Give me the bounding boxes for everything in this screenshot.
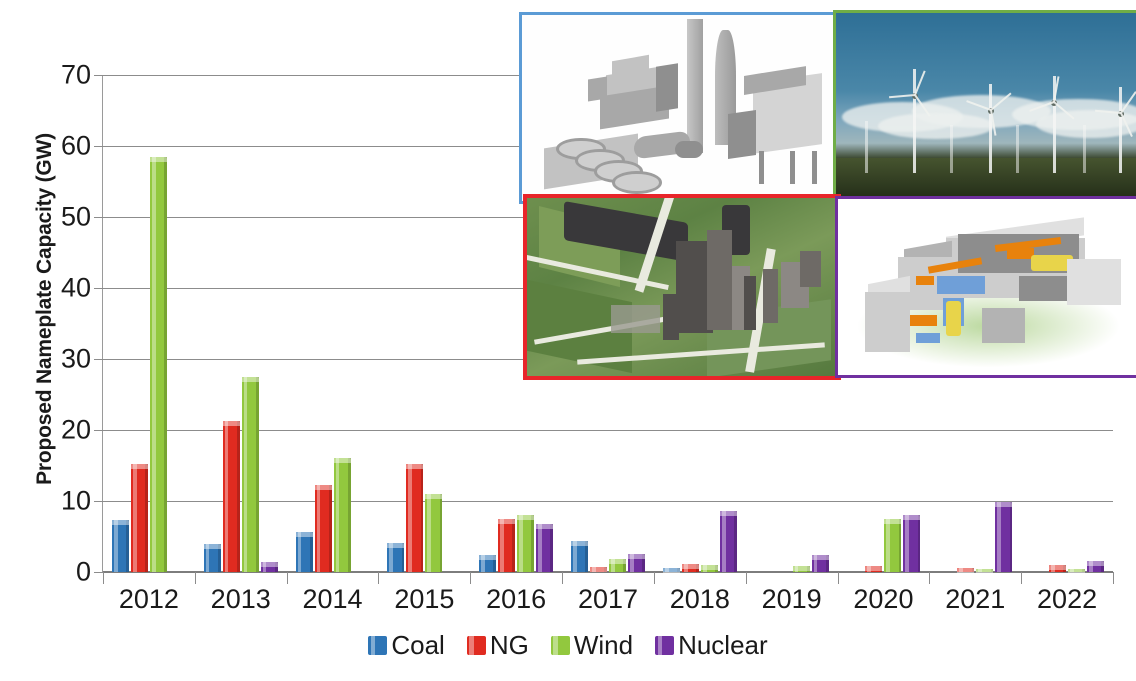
x-axis-tick-label-2020: 2020	[838, 584, 930, 615]
x-axis-tick-mark	[1021, 572, 1022, 584]
x-axis-tick-mark	[470, 572, 471, 584]
bar-cap	[296, 532, 313, 537]
bar-coal-2013[interactable]	[204, 544, 221, 572]
bar-coal-2014[interactable]	[296, 532, 313, 572]
bar-highlight	[225, 421, 229, 572]
legend-item-ng[interactable]: NG	[467, 630, 529, 661]
bar-cap	[1049, 565, 1066, 570]
x-axis-tick-label-2012: 2012	[103, 584, 195, 615]
x-axis-tick-mark	[103, 572, 104, 584]
bar-ng-2017[interactable]	[590, 567, 607, 572]
bar-cap	[223, 421, 240, 426]
bar-cap	[903, 515, 920, 520]
legend-swatch-wind	[551, 636, 570, 655]
bar-highlight	[408, 464, 412, 572]
bar-shadow	[256, 377, 259, 572]
legend-swatch-ng	[467, 636, 486, 655]
bar-nuclear-2013[interactable]	[261, 562, 278, 572]
bar-highlight	[905, 515, 909, 572]
bar-shadow	[310, 532, 313, 572]
x-axis-tick-mark	[654, 572, 655, 584]
bar-cap	[812, 555, 829, 560]
bar-shadow	[734, 511, 737, 572]
x-axis-tick-mark	[746, 572, 747, 584]
bar-nuclear-2019[interactable]	[812, 555, 829, 572]
bar-wind-2021[interactable]	[976, 569, 993, 572]
x-axis-tick-label-2018: 2018	[654, 584, 746, 615]
bar-cap	[663, 568, 680, 573]
bar-cap	[261, 562, 278, 567]
legend-swatch-highlight	[371, 636, 376, 655]
bar-highlight	[336, 458, 340, 572]
bar-highlight	[886, 519, 890, 572]
y-axis-tick-mark	[94, 75, 103, 76]
y-axis-tick-mark	[94, 430, 103, 431]
bar-cap	[498, 519, 515, 524]
x-axis-tick-mark	[287, 572, 288, 584]
bar-cap	[609, 559, 626, 564]
bar-highlight	[317, 485, 321, 572]
bar-cap	[112, 520, 129, 525]
legend-swatch-highlight	[658, 636, 663, 655]
bar-highlight	[133, 464, 137, 572]
bar-cap	[204, 544, 221, 549]
bar-coal-2017[interactable]	[571, 541, 588, 572]
bar-cap	[884, 519, 901, 524]
bar-ng-2016[interactable]	[498, 519, 515, 572]
y-axis-tick-mark	[94, 572, 103, 573]
bar-shadow	[550, 524, 553, 572]
bar-ng-2020[interactable]	[865, 566, 882, 572]
bar-highlight	[152, 157, 156, 572]
bar-shadow	[1010, 502, 1013, 572]
bar-ng-2013[interactable]	[223, 421, 240, 572]
legend-label: Coal	[391, 630, 444, 661]
bar-cap	[957, 568, 974, 573]
y-axis-tick-mark	[94, 359, 103, 360]
bar-cap	[406, 464, 423, 469]
y-axis-tick-label: 60	[21, 131, 91, 162]
y-axis-tick-mark	[94, 146, 103, 147]
legend-label: Nuclear	[678, 630, 768, 661]
bar-cap	[995, 502, 1012, 507]
bar-ng-2021[interactable]	[957, 568, 974, 572]
bar-highlight	[997, 502, 1001, 572]
bar-highlight	[519, 515, 523, 572]
bar-highlight	[538, 524, 542, 572]
y-axis-tick-label: 10	[21, 486, 91, 517]
bar-cap	[150, 157, 167, 162]
bar-cap	[536, 524, 553, 529]
legend-item-nuclear[interactable]: Nuclear	[655, 630, 768, 661]
bar-cap	[425, 494, 442, 499]
bar-group	[195, 75, 287, 572]
y-axis-tick-label: 40	[21, 273, 91, 304]
bar-wind-2013[interactable]	[242, 377, 259, 572]
bar-shadow	[237, 421, 240, 572]
x-axis-tick-label-2013: 2013	[195, 584, 287, 615]
bar-cap	[242, 377, 259, 382]
bar-shadow	[918, 515, 921, 572]
y-axis-tick-label: 20	[21, 415, 91, 446]
bar-cap	[571, 541, 588, 546]
y-axis-tick-label: 0	[21, 557, 91, 588]
bar-shadow	[899, 519, 902, 572]
bar-ng-2015[interactable]	[406, 464, 423, 572]
x-axis-tick-label-2016: 2016	[470, 584, 562, 615]
bar-cap	[1068, 569, 1085, 574]
legend-item-coal[interactable]: Coal	[368, 630, 444, 661]
bar-group	[378, 75, 470, 572]
bar-shadow	[512, 519, 515, 572]
bar-wind-2015[interactable]	[425, 494, 442, 572]
x-axis-tick-label-2022: 2022	[1021, 584, 1113, 615]
legend-swatch-highlight	[469, 636, 474, 655]
nuclear-reactor-cutaway-inset	[835, 196, 1136, 378]
legend-swatch-nuclear	[655, 636, 674, 655]
bar-cap	[334, 458, 351, 463]
bar-cap	[1087, 561, 1104, 566]
x-axis-tick-label-2021: 2021	[929, 584, 1021, 615]
bar-shadow	[329, 485, 332, 572]
bar-nuclear-2017[interactable]	[628, 554, 645, 572]
x-axis-tick-mark	[1113, 572, 1114, 584]
y-axis-tick-mark	[94, 217, 103, 218]
bar-coal-2015[interactable]	[387, 543, 404, 572]
chart-figure: Proposed Nameplate Capacity (GW) 0102030…	[0, 0, 1136, 681]
bar-highlight	[722, 511, 726, 572]
bar-nuclear-2018[interactable]	[720, 511, 737, 572]
bar-coal-2018[interactable]	[663, 568, 680, 572]
bar-highlight	[244, 377, 248, 572]
bar-cap	[387, 543, 404, 548]
x-axis-tick-label-2014: 2014	[287, 584, 379, 615]
x-axis-tick-label-2015: 2015	[378, 584, 470, 615]
bar-cap	[131, 464, 148, 469]
bar-cap	[720, 511, 737, 516]
bar-highlight	[298, 532, 302, 572]
bar-highlight	[500, 519, 504, 572]
bar-coal-2016[interactable]	[479, 555, 496, 572]
bar-ng-2018[interactable]	[682, 564, 699, 572]
coal-plant-rendering-inset	[519, 12, 837, 204]
bar-cap	[590, 567, 607, 572]
y-axis-tick-label: 70	[21, 60, 91, 91]
x-axis-tick-mark	[929, 572, 930, 584]
y-axis-tick-mark	[94, 501, 103, 502]
bar-cap	[682, 564, 699, 569]
bar-nuclear-2020[interactable]	[903, 515, 920, 572]
bar-cap	[865, 566, 882, 571]
bar-coal-2012[interactable]	[112, 520, 129, 572]
y-axis-tick-label: 50	[21, 202, 91, 233]
bar-highlight	[114, 520, 118, 572]
x-axis-tick-mark	[838, 572, 839, 584]
wind-farm-photo-inset	[833, 10, 1136, 202]
x-axis-tick-mark	[195, 572, 196, 584]
bar-cap	[315, 485, 332, 490]
legend-label: NG	[490, 630, 529, 661]
bar-wind-2017[interactable]	[609, 559, 626, 572]
bar-ng-2012[interactable]	[131, 464, 148, 572]
bar-highlight	[427, 494, 431, 572]
bar-shadow	[531, 515, 534, 572]
x-axis-tick-label-2017: 2017	[562, 584, 654, 615]
bar-shadow	[348, 458, 351, 572]
gas-plant-aerial-photo-inset	[523, 194, 841, 380]
bar-ng-2014[interactable]	[315, 485, 332, 572]
bar-shadow	[421, 464, 424, 572]
bar-shadow	[440, 494, 443, 572]
legend-swatch-highlight	[553, 636, 558, 655]
bar-wind-2012[interactable]	[150, 157, 167, 572]
x-axis-tick-mark	[562, 572, 563, 584]
bar-cap	[479, 555, 496, 560]
bar-group	[287, 75, 379, 572]
bar-wind-2018[interactable]	[701, 565, 718, 572]
legend-swatch-coal	[368, 636, 387, 655]
bar-shadow	[164, 157, 167, 572]
bar-shadow	[126, 520, 129, 572]
bar-wind-2016[interactable]	[517, 515, 534, 572]
bar-cap	[793, 566, 810, 571]
x-axis-tick-mark	[378, 572, 379, 584]
legend-item-wind[interactable]: Wind	[551, 630, 633, 661]
bar-cap	[976, 569, 993, 574]
legend-label: Wind	[574, 630, 633, 661]
bar-nuclear-2021[interactable]	[995, 502, 1012, 572]
bar-wind-2014[interactable]	[334, 458, 351, 572]
chart-legend: CoalNGWindNuclear	[0, 630, 1136, 661]
x-axis-tick-label-2019: 2019	[746, 584, 838, 615]
bar-shadow	[145, 464, 148, 572]
bar-nuclear-2016[interactable]	[536, 524, 553, 572]
bar-wind-2019[interactable]	[793, 566, 810, 572]
bar-group	[103, 75, 195, 572]
y-axis-tick-mark	[94, 288, 103, 289]
bar-wind-2022[interactable]	[1068, 569, 1085, 572]
bar-ng-2022[interactable]	[1049, 565, 1066, 572]
bar-wind-2020[interactable]	[884, 519, 901, 572]
y-axis-tick-label: 30	[21, 344, 91, 375]
bar-nuclear-2022[interactable]	[1087, 561, 1104, 572]
bar-cap	[628, 554, 645, 559]
bar-cap	[701, 565, 718, 570]
bar-cap	[517, 515, 534, 520]
